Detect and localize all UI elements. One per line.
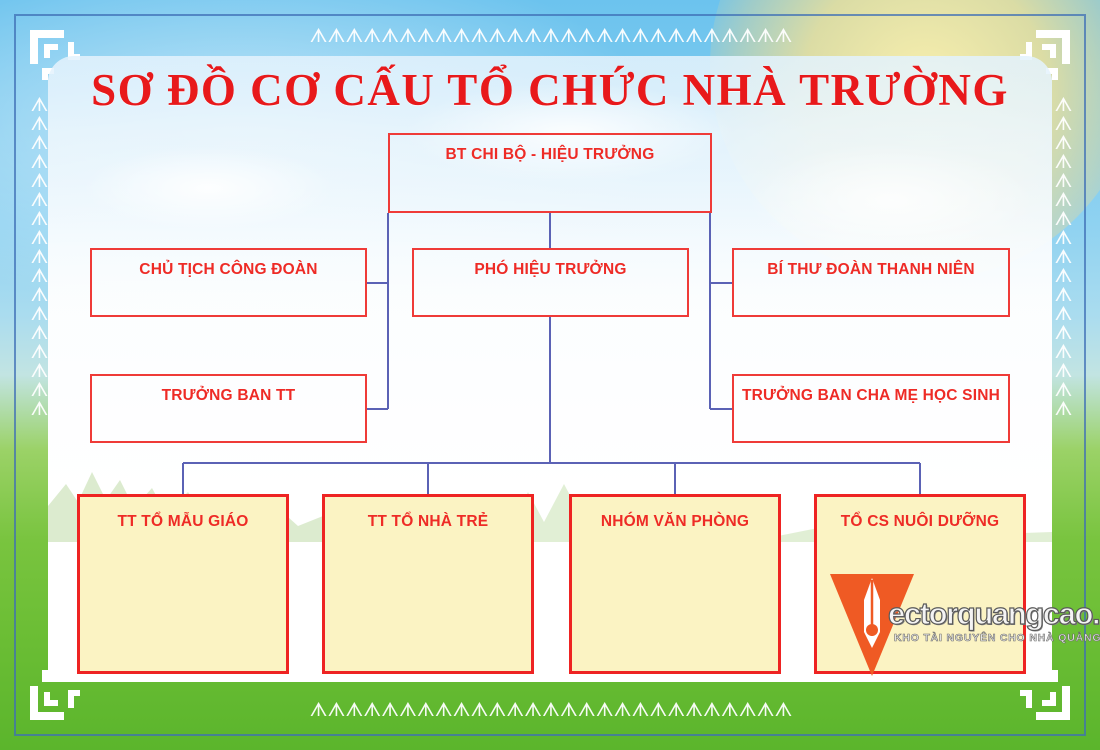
org-node-pho-hieu-truong[interactable]: PHÓ HIỆU TRƯỞNG — [412, 248, 689, 317]
org-node-tt-to-mau-giao[interactable]: TT TỔ MẪU GIÁO — [77, 494, 289, 674]
org-node-truong-ban-tt[interactable]: TRƯỞNG BAN TT — [90, 374, 367, 443]
org-node-bt-chi-bo-hieu-truong[interactable]: BT CHI BỘ - HIỆU TRƯỞNG — [388, 133, 712, 213]
poster-canvas: ᗑᗑᗑᗑᗑᗑᗑᗑᗑᗑᗑᗑᗑᗑᗑᗑᗑᗑᗑᗑᗑᗑᗑᗑᗑᗑᗑ ᗑᗑᗑᗑᗑᗑᗑᗑᗑᗑᗑᗑ… — [0, 0, 1100, 750]
org-node-chu-tich-cong-doan[interactable]: CHỦ TỊCH CÔNG ĐOÀN — [90, 248, 367, 317]
org-node-to-cs-nuoi-duong[interactable]: TỔ CS NUÔI DƯỠNG — [814, 494, 1026, 674]
org-node-tt-to-nha-tre[interactable]: TT TỔ NHÀ TRẺ — [322, 494, 534, 674]
org-node-truong-ban-cha-me-hoc-sinh[interactable]: TRƯỞNG BAN CHA MẸ HỌC SINH — [732, 374, 1010, 443]
org-node-nhom-van-phong[interactable]: NHÓM VĂN PHÒNG — [569, 494, 781, 674]
page-title: SƠ ĐỒ CƠ CẤU TỔ CHỨC NHÀ TRƯỜNG — [0, 64, 1100, 116]
org-node-bi-thu-doan-thanh-nien[interactable]: BÍ THƯ ĐOÀN THANH NIÊN — [732, 248, 1010, 317]
